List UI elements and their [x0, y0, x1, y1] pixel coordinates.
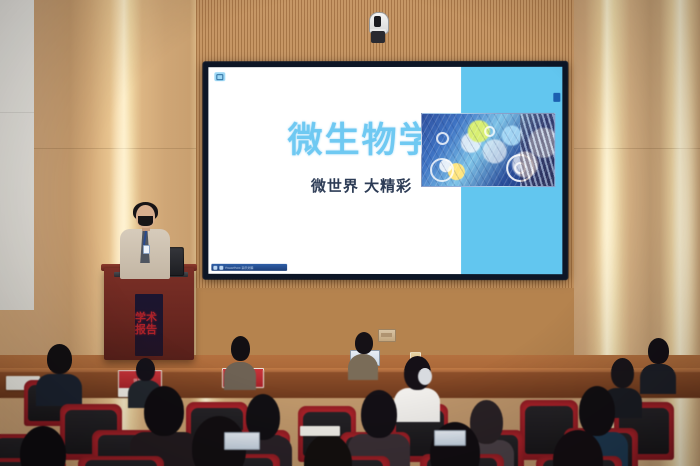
microbiology-image [421, 113, 555, 187]
attendee [348, 332, 378, 378]
lecture-hall-photo: 微生物学 微世界 大精彩 PowerPoint 演示文稿 学术报告 [0, 0, 700, 466]
slide-taskbar[interactable]: PowerPoint 演示文稿 [211, 264, 287, 271]
attendee [540, 430, 618, 466]
presenter-figure [118, 205, 172, 277]
attendee [640, 338, 676, 392]
ptz-camera-icon [368, 12, 388, 44]
page-marker-icon [553, 93, 560, 102]
audience-area: 领导席 专家席 [0, 330, 700, 466]
slide-canvas: 微生物学 微世界 大精彩 PowerPoint 演示文稿 [208, 67, 562, 274]
attendee [36, 344, 82, 402]
attendee [292, 434, 366, 466]
seat[interactable] [78, 456, 164, 466]
paper-sheet [300, 426, 340, 436]
attendee [224, 336, 256, 388]
slide-thumbnail-icon [214, 72, 225, 81]
wall-left-plaster-strip [0, 0, 34, 310]
presenter-badge [143, 245, 150, 254]
attendee [10, 426, 82, 466]
audience-laptop[interactable] [224, 432, 260, 450]
large-led-display[interactable]: 微生物学 微世界 大精彩 PowerPoint 演示文稿 [203, 62, 567, 279]
audience-laptop[interactable] [434, 430, 466, 446]
taskbar-label: PowerPoint 演示文稿 [225, 265, 253, 269]
